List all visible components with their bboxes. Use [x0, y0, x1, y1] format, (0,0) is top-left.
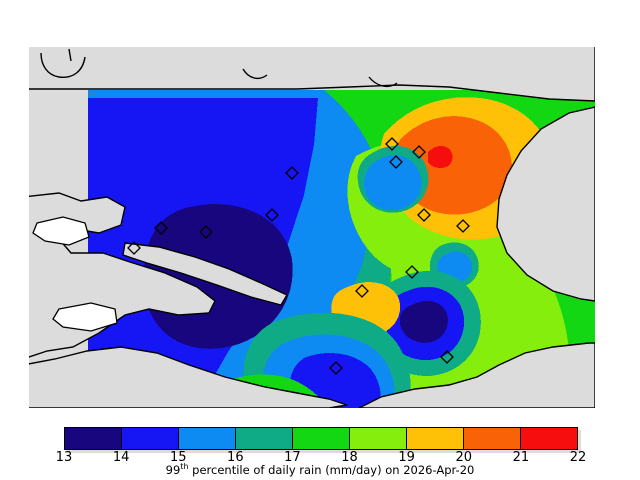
colorbar-swatch-0 [65, 428, 122, 449]
colorbar-caption: 99th percentile of daily rain (mm/day) o… [0, 462, 640, 477]
caption-prefix: 99 [166, 463, 181, 477]
colorbar-swatch-8 [521, 428, 577, 449]
colorbar-swatch-2 [179, 428, 236, 449]
colorbar [64, 427, 578, 450]
weather-map-figure: VictoriaWeather.ca -- Summer Total Daily… [0, 0, 640, 480]
rain-contour-field [88, 90, 595, 408]
colorbar-swatch-7 [464, 428, 521, 449]
caption-ordinal: th [180, 462, 188, 471]
colorbar-swatch-1 [122, 428, 179, 449]
colorbar-swatch-3 [236, 428, 293, 449]
colorbar-swatch-6 [407, 428, 464, 449]
colorbar-swatch-5 [350, 428, 407, 449]
map-plot-area [29, 47, 595, 408]
caption-suffix: percentile of daily rain (mm/day) on 202… [189, 463, 475, 477]
colorbar-swatch-4 [293, 428, 350, 449]
